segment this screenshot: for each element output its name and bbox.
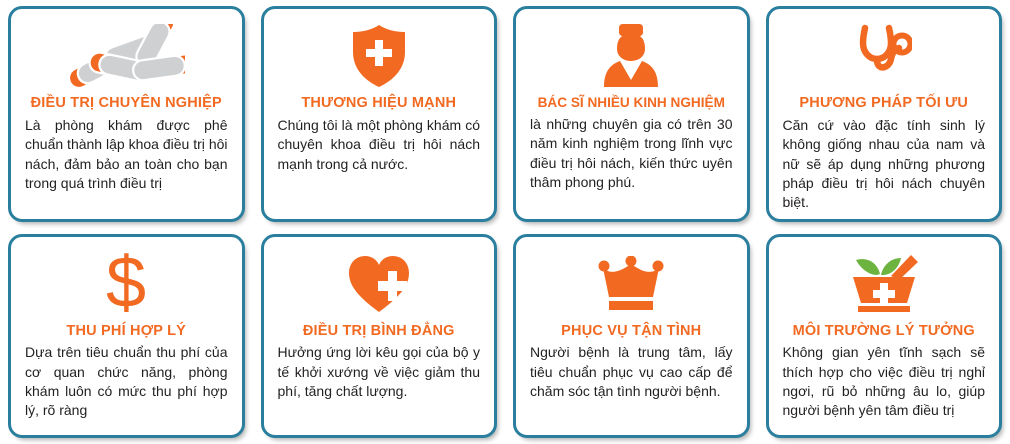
card-body: Người bệnh là trung tâm, lấy tiêu chuẩn … [528, 343, 735, 401]
crown-icon [598, 247, 664, 321]
card-title: THU PHÍ HỢP LÝ [66, 324, 186, 340]
feature-card[interactable]: $ THU PHÍ HỢP LÝ Dựa trên tiêu chuẩn thu… [8, 234, 245, 439]
feature-card[interactable]: BÁC SĨ NHIỀU KINH NGHIỆM là những chuyên… [513, 6, 750, 222]
card-body: Căn cứ vào đặc tính sinh lý không giống … [781, 116, 988, 213]
doctor-icon [602, 19, 660, 93]
card-title: MÔI TRƯỜNG LÝ TƯỞNG [793, 324, 975, 340]
shield-cross-icon [350, 19, 408, 93]
mortar-pestle-icon [847, 247, 921, 321]
card-body: Không gian yên tĩnh sạch sẽ thích hợp ch… [781, 343, 988, 420]
capsules-pile-icon [67, 19, 185, 93]
card-body: Dựa trên tiêu chuẩn thu phí của cơ quan … [23, 343, 230, 420]
feature-card[interactable]: THƯƠNG HIỆU MẠNH Chúng tôi là một phòng … [261, 6, 498, 222]
card-body: Là phòng khám được phê chuẩn thành lập k… [23, 116, 230, 193]
feature-card-grid: ĐIỀU TRỊ CHUYÊN NGHIỆP Là phòng khám đượ… [0, 0, 1010, 444]
card-title: ĐIỀU TRỊ CHUYÊN NGHIỆP [31, 96, 222, 112]
card-title: ĐIỀU TRỊ BÌNH ĐẲNG [303, 324, 455, 340]
card-body: Hưởng ứng lời kêu gọi của bộ y tế khởi x… [276, 343, 483, 401]
feature-card[interactable]: ĐIỀU TRỊ CHUYÊN NGHIỆP Là phòng khám đượ… [8, 6, 245, 222]
stethoscope-icon [856, 19, 912, 93]
card-title: PHỤC VỤ TẬN TÌNH [561, 324, 701, 340]
feature-card[interactable]: ĐIỀU TRỊ BÌNH ĐẲNG Hưởng ứng lời kêu gọi… [261, 234, 498, 439]
feature-card[interactable]: PHƯƠNG PHÁP TỐI ƯU Căn cứ vào đặc tính s… [766, 6, 1003, 222]
card-title: PHƯƠNG PHÁP TỐI ƯU [799, 96, 968, 112]
svg-text:$: $ [106, 249, 146, 319]
card-body: là những chuyên gia có trên 30 năm kinh … [528, 115, 735, 192]
card-title: THƯƠNG HIỆU MẠNH [301, 96, 456, 112]
feature-card[interactable]: PHỤC VỤ TẬN TÌNH Người bệnh là trung tâm… [513, 234, 750, 439]
feature-card[interactable]: MÔI TRƯỜNG LÝ TƯỞNG Không gian yên tĩnh … [766, 234, 1003, 439]
heart-cross-icon [347, 247, 411, 321]
card-title: BÁC SĨ NHIỀU KINH NGHIỆM [538, 96, 725, 111]
dollar-sign-icon: $ [100, 247, 152, 321]
card-body: Chúng tôi là một phòng khám có chuyên kh… [276, 116, 483, 174]
